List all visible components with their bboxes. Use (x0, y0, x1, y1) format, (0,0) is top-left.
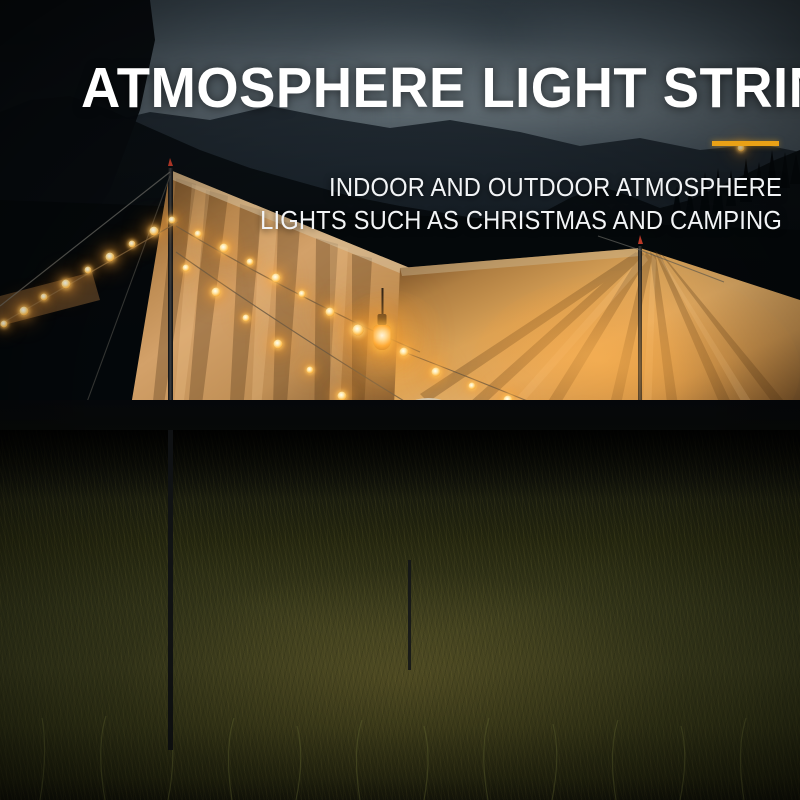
string-light-bulb (272, 274, 281, 283)
string-light-bulb (129, 241, 136, 248)
string-light-bulb (247, 259, 254, 266)
string-light-bulb (106, 253, 115, 262)
string-light-bulb (220, 244, 229, 253)
string-light-bulb (243, 315, 250, 322)
ground-shadow-band (0, 430, 800, 500)
string-light-bulb (299, 291, 306, 298)
string-light-bulb (41, 294, 48, 301)
string-light-bulb (20, 307, 29, 316)
string-light-bulb (1, 321, 8, 328)
string-light-bulb (212, 288, 221, 297)
lamp-bulb-icon (374, 325, 391, 350)
lamp-cord (381, 288, 383, 314)
pendant-lamp (374, 288, 391, 350)
lamp-cap (378, 314, 387, 325)
string-light-bulb (432, 368, 441, 377)
string-light-bulb (169, 217, 176, 224)
string-light-bulb (469, 383, 476, 390)
string-light-bulb (274, 340, 283, 349)
page-title: ATMOSPHERE LIGHT STRING (81, 58, 800, 118)
subtitle-line-2: LIGHTS SUCH AS CHRISTMAS AND CAMPING (187, 205, 782, 238)
string-light-bulb (326, 308, 335, 317)
poster-canvas: ATMOSPHERE LIGHT STRING INDOOR AND OUTDO… (0, 0, 800, 800)
string-light-bulb (353, 325, 364, 336)
page-subtitle: INDOOR AND OUTDOOR ATMOSPHERE LIGHTS SUC… (187, 172, 782, 238)
subtitle-line-1: INDOOR AND OUTDOOR ATMOSPHERE (187, 172, 782, 205)
string-light-bulb (183, 265, 190, 272)
string-light-bulb (150, 227, 159, 236)
string-light-bulb (62, 280, 71, 289)
string-light-bulb (307, 367, 314, 374)
string-light-bulb (400, 348, 409, 357)
accent-divider (712, 141, 779, 146)
string-light-bulb (85, 267, 92, 274)
